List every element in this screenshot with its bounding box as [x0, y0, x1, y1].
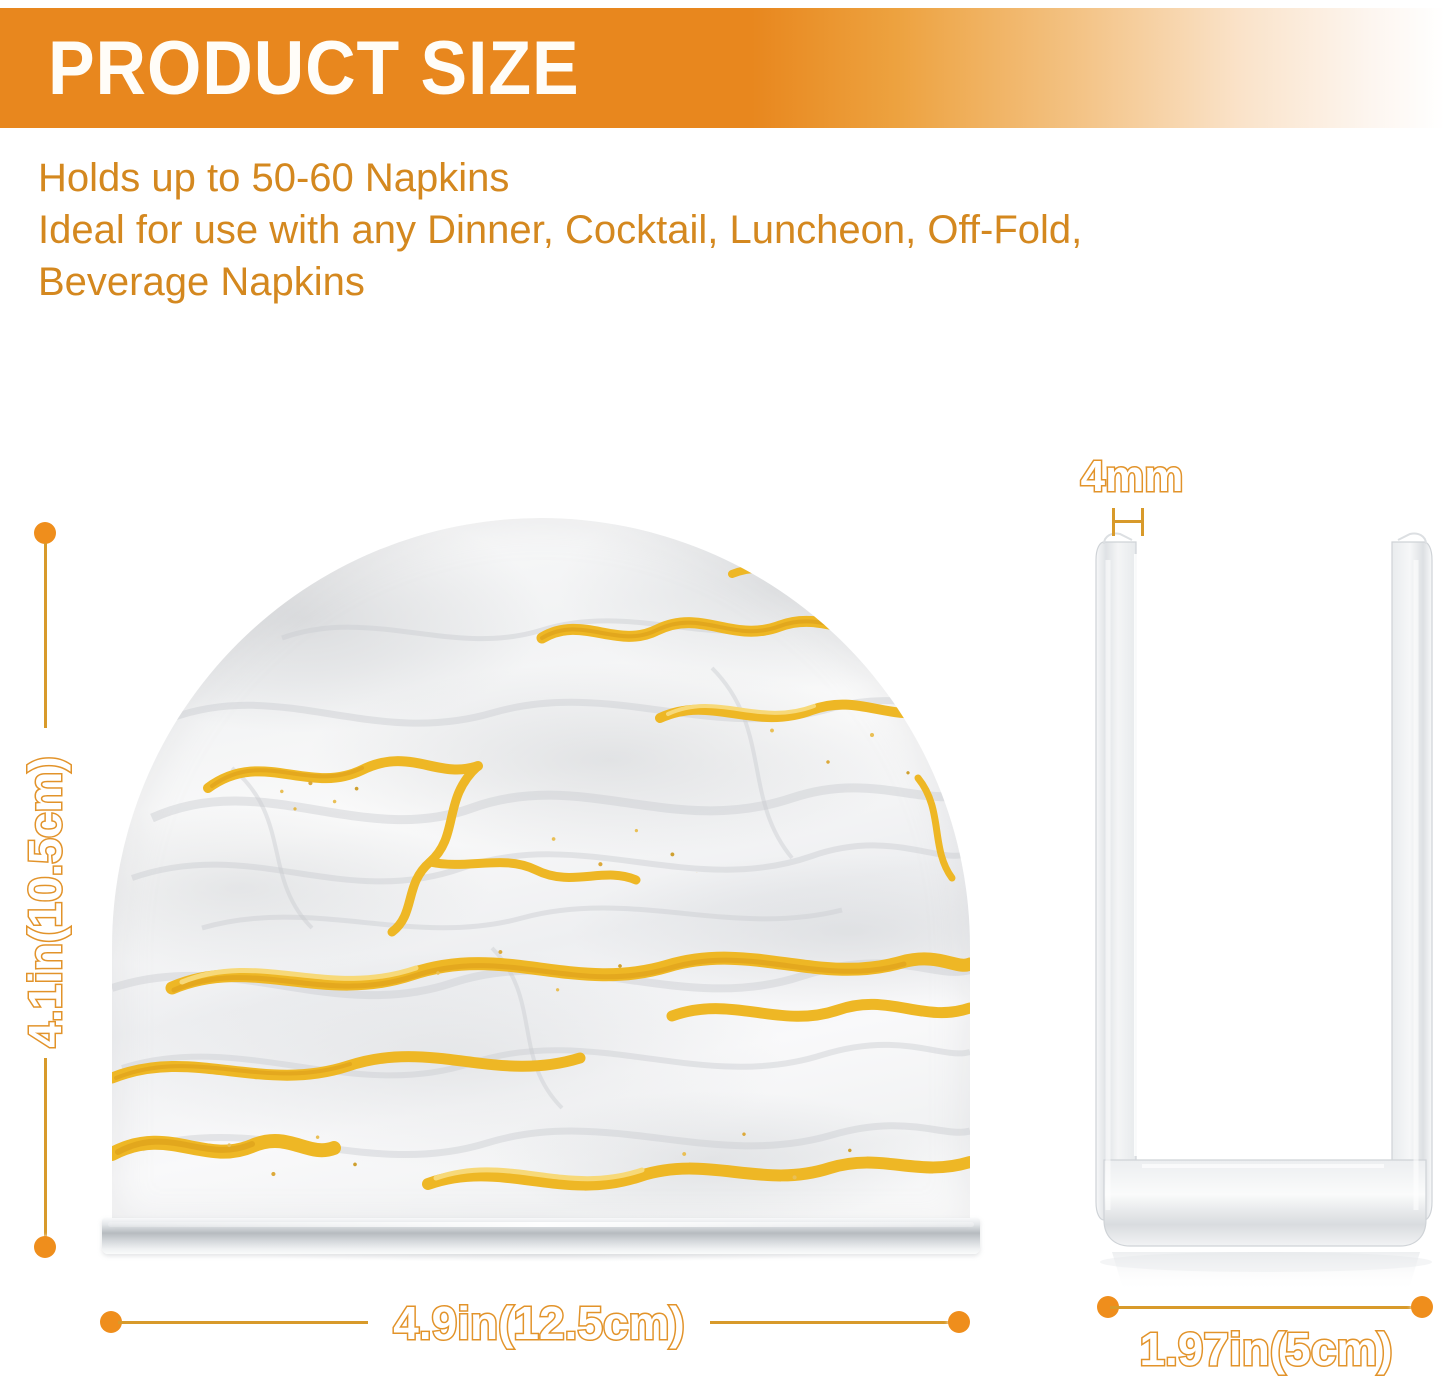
- napkin-holder-side-view: [1090, 520, 1440, 1310]
- glitter-cluster: [202, 1118, 372, 1198]
- height-dim-line-upper: [44, 543, 47, 728]
- height-dim-label: 4.1in(10.5cm): [18, 742, 72, 1062]
- product-description: Holds up to 50-60 Napkins Ideal for use …: [38, 152, 1418, 308]
- glitter-cluster: [262, 773, 372, 819]
- page-title: PRODUCT SIZE: [48, 26, 580, 112]
- glitter-cluster: [412, 938, 672, 1008]
- product-size-banner: PRODUCT SIZE: [0, 8, 1445, 128]
- depth-dim-line: [1110, 1306, 1422, 1309]
- description-line-3: Beverage Napkins: [38, 256, 1418, 308]
- thickness-dim-label: 4mm: [1062, 452, 1202, 502]
- height-dim-cap-bottom: [34, 1236, 56, 1258]
- width-dim-cap-right: [948, 1311, 970, 1333]
- base-highlight: [108, 1222, 974, 1227]
- width-dim-label: 4.9in(12.5cm): [374, 1296, 704, 1350]
- glitter-cluster: [732, 708, 932, 798]
- napkin-holder-front-view: [112, 518, 970, 1253]
- width-dim-line-right: [710, 1321, 955, 1324]
- marble-arch-panel: [112, 518, 970, 1230]
- front-view-shadow: [132, 1254, 952, 1276]
- description-line-2: Ideal for use with any Dinner, Cocktail,…: [38, 204, 1418, 256]
- u-profile-acrylic: [1090, 520, 1440, 1310]
- description-line-1: Holds up to 50-60 Napkins: [38, 152, 1418, 204]
- glitter-cluster: [652, 1118, 882, 1208]
- thickness-tick-right: [1141, 508, 1144, 536]
- height-dim-cap-top: [34, 522, 56, 544]
- height-dim-line-lower: [44, 1058, 47, 1248]
- depth-dim-cap-right: [1411, 1296, 1433, 1318]
- thickness-tick-bar: [1112, 520, 1144, 523]
- glitter-cluster: [532, 818, 712, 888]
- width-dim-line-left: [118, 1321, 368, 1324]
- depth-dim-label: 1.97in(5cm): [1106, 1322, 1426, 1376]
